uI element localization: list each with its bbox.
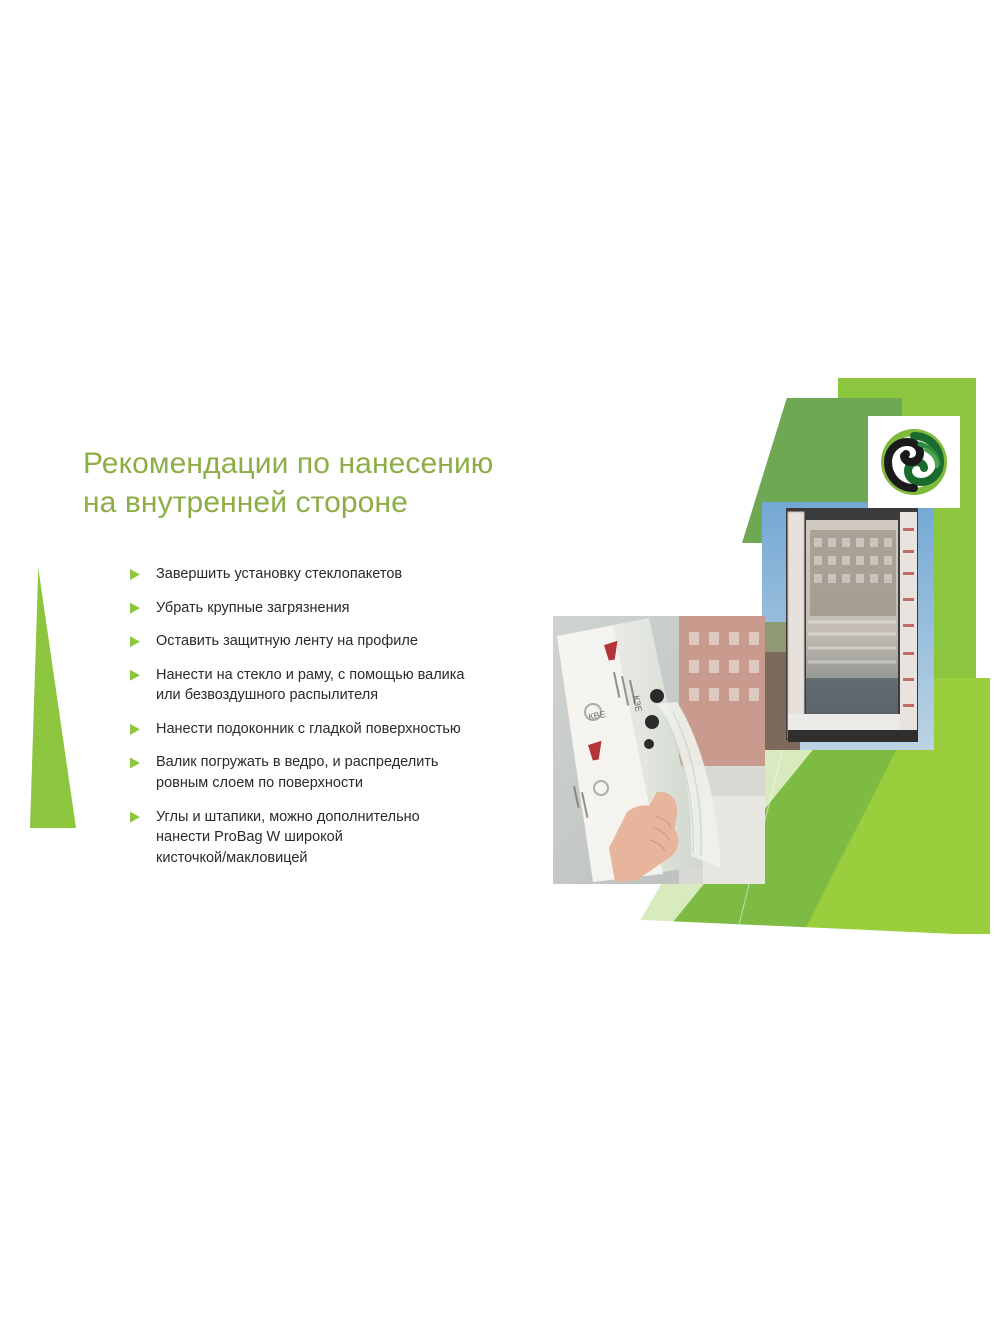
list-item: Завершить установку стеклопакетов: [130, 564, 560, 585]
list-item-label: Нанести на стекло и раму, с помощью вали…: [156, 665, 465, 706]
list-item-label: Валик погружать в ведро, и распределить …: [156, 752, 439, 793]
list-item: Убрать крупные загрязнения: [130, 598, 560, 619]
triangle-bullet-icon: [130, 636, 140, 647]
triangle-bullet-icon: [130, 812, 140, 823]
page-title: Рекомендации по нанесению на внутренней …: [83, 444, 603, 522]
triangle-bullet-icon: [130, 757, 140, 768]
list-item: Оставить защитную ленту на профиле: [130, 631, 560, 652]
list-item: Углы и штапики, можно дополнительно нане…: [130, 807, 560, 869]
company-swirl-logo: [868, 416, 960, 508]
bottom-white-cut: [600, 918, 1000, 934]
open-window-with-coating-photo: [762, 502, 934, 750]
triangle-bullet-icon: [130, 670, 140, 681]
triangle-bullet-icon: [130, 603, 140, 614]
title-line-2: на внутренней стороне: [83, 483, 603, 522]
title-line-1: Рекомендации по нанесению: [83, 444, 603, 483]
list-item-label: Завершить установку стеклопакетов: [156, 564, 402, 585]
list-item-label: Убрать крупные загрязнения: [156, 598, 350, 619]
list-item-label: Углы и штапики, можно дополнительно нане…: [156, 807, 420, 869]
triangle-bullet-icon: [130, 724, 140, 735]
list-item: Валик погружать в ведро, и распределить …: [130, 752, 560, 793]
list-item: Нанести подоконник с гладкой поверхность…: [130, 719, 560, 740]
window-profile-protective-film-photo: КЗЕ КВЕ: [553, 616, 765, 884]
presentation-slide: КЗЕ КВЕ: [0, 378, 1000, 934]
list-item-label: Нанести подоконник с гладкой поверхность…: [156, 719, 461, 740]
left-green-spike: [30, 568, 76, 828]
triangle-bullet-icon: [130, 569, 140, 580]
recommendations-list: Завершить установку стеклопакетов Убрать…: [130, 564, 560, 868]
list-item-label: Оставить защитную ленту на профиле: [156, 631, 418, 652]
list-item: Нанести на стекло и раму, с помощью вали…: [130, 665, 560, 706]
